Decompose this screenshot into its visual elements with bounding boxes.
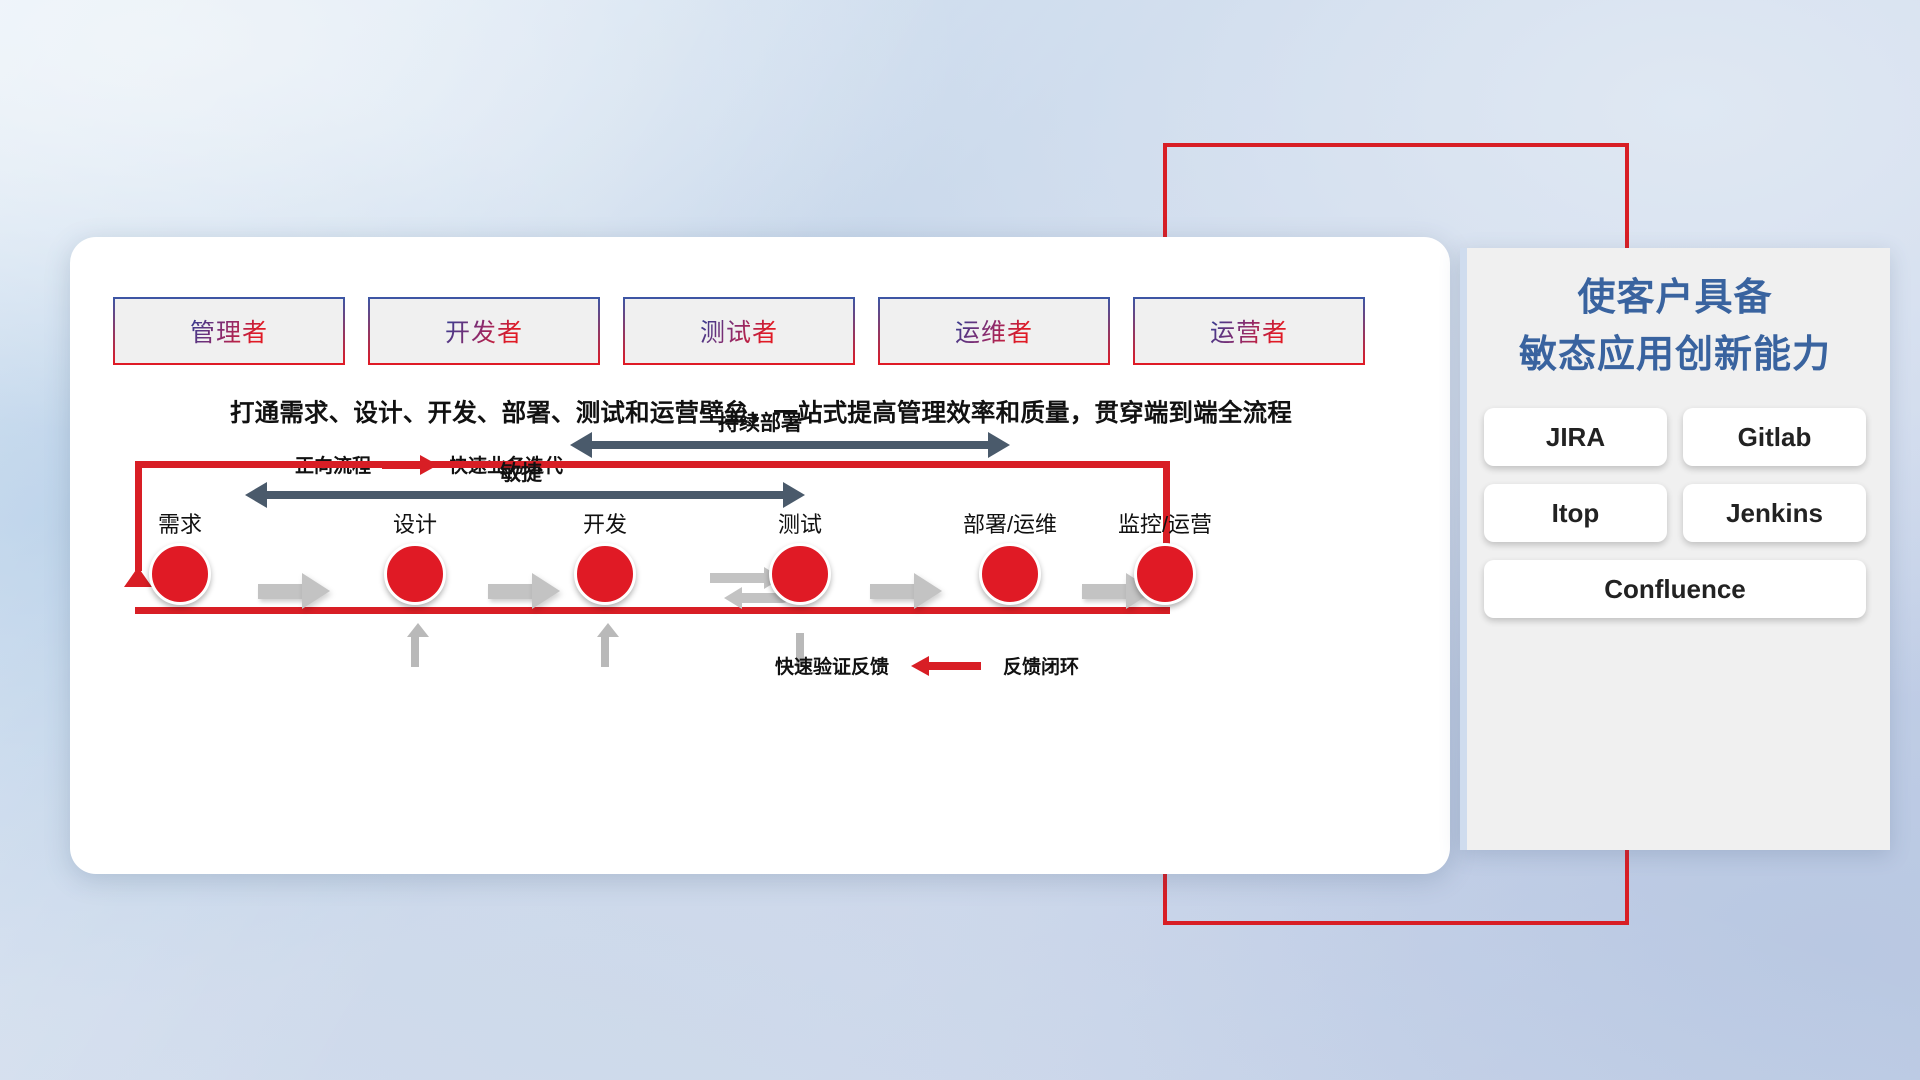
main-diagram-card: 管理者 开发者 测试者 运维者 运营者 打通需求、设计、开发、部署、测试和运营壁… (70, 237, 1450, 874)
stage-requirements[interactable]: 需求 (125, 507, 235, 605)
stage-label: 设计 (360, 507, 470, 539)
arrow-bar (590, 441, 990, 449)
flow-arrow-3-icon (870, 573, 942, 609)
span-arrow-agile (245, 482, 805, 508)
stage-label: 部署/运维 (955, 507, 1065, 539)
tool-tag-grid: JIRA Gitlab Itop Jenkins Confluence (1460, 384, 1890, 618)
panel-title-line1: 使客户具备 (1460, 270, 1890, 327)
stage-dot (1134, 543, 1196, 605)
role-label: 开发者 (445, 313, 523, 349)
role-label: 运维者 (955, 313, 1033, 349)
stage-label: 需求 (125, 507, 235, 539)
stage-testing[interactable]: 测试 (745, 507, 855, 605)
stage-dot (574, 543, 636, 605)
arrow-head-right-icon (988, 432, 1010, 458)
arrow-left-red-icon (911, 656, 981, 676)
arrow-bar (870, 584, 916, 599)
tool-tag-gitlab[interactable]: Gitlab (1683, 408, 1866, 466)
role-label: 测试者 (700, 313, 778, 349)
stage-label: 测试 (745, 507, 855, 539)
stage-development[interactable]: 开发 (550, 507, 660, 605)
role-label: 管理者 (190, 313, 268, 349)
stage-label: 开发 (550, 507, 660, 539)
stage-monitor-operations[interactable]: 监控/运营 (1110, 507, 1220, 605)
stage-pipeline: 需求 设计 开发 测试 (110, 507, 1230, 637)
pipeline-rail-top (135, 461, 1170, 468)
stage-dot (769, 543, 831, 605)
tool-tag-jenkins[interactable]: Jenkins (1683, 484, 1866, 542)
stage-label: 监控/运营 (1110, 507, 1220, 539)
stage-dot (384, 543, 446, 605)
role-box-tester[interactable]: 测试者 (623, 297, 855, 365)
span-arrow-continuous-deployment (570, 432, 1010, 458)
panel-left-edge (1460, 248, 1467, 850)
feedback-stem-development (601, 633, 609, 667)
stage-design[interactable]: 设计 (360, 507, 470, 605)
legend-feedback-right-label: 反馈闭环 (1003, 652, 1079, 679)
legend-feedback-left-label: 快速验证反馈 (775, 652, 889, 679)
flow-arrow-1-icon (258, 573, 330, 609)
arrow-head-right-icon (783, 482, 805, 508)
connector-frame-bottom (1163, 921, 1629, 925)
tool-tag-jira[interactable]: JIRA (1484, 408, 1667, 466)
arrow-head-left-icon (570, 432, 592, 458)
feedback-stem-head-design-icon (407, 623, 429, 637)
role-box-manager[interactable]: 管理者 (113, 297, 345, 365)
arrow-bar (265, 491, 785, 499)
arrow-head-left-icon (245, 482, 267, 508)
stage-dot (149, 543, 211, 605)
role-box-row: 管理者 开发者 测试者 运维者 运营者 (113, 297, 1365, 365)
feedback-stem-design (411, 633, 419, 667)
panel-title-line2: 敏态应用创新能力 (1460, 327, 1890, 384)
connector-frame-top (1163, 143, 1629, 147)
arrow-bar (488, 584, 534, 599)
role-box-developer[interactable]: 开发者 (368, 297, 600, 365)
role-box-operations[interactable]: 运营者 (1133, 297, 1365, 365)
legend-feedback-loop: 快速验证反馈 反馈闭环 (775, 652, 1079, 679)
stage-deploy-ops[interactable]: 部署/运维 (955, 507, 1065, 605)
role-label: 运营者 (1210, 313, 1288, 349)
role-box-ops[interactable]: 运维者 (878, 297, 1110, 365)
tool-tag-itop[interactable]: Itop (1484, 484, 1667, 542)
tool-tag-confluence[interactable]: Confluence (1484, 560, 1866, 618)
stage-dot (979, 543, 1041, 605)
arrow-head-icon (914, 573, 942, 609)
value-panel: 使客户具备 敏态应用创新能力 JIRA Gitlab Itop Jenkins … (1460, 248, 1890, 850)
arrow-bar (258, 584, 304, 599)
arrow-head-icon (302, 573, 330, 609)
panel-title: 使客户具备 敏态应用创新能力 (1460, 248, 1890, 384)
feedback-stem-head-development-icon (597, 623, 619, 637)
